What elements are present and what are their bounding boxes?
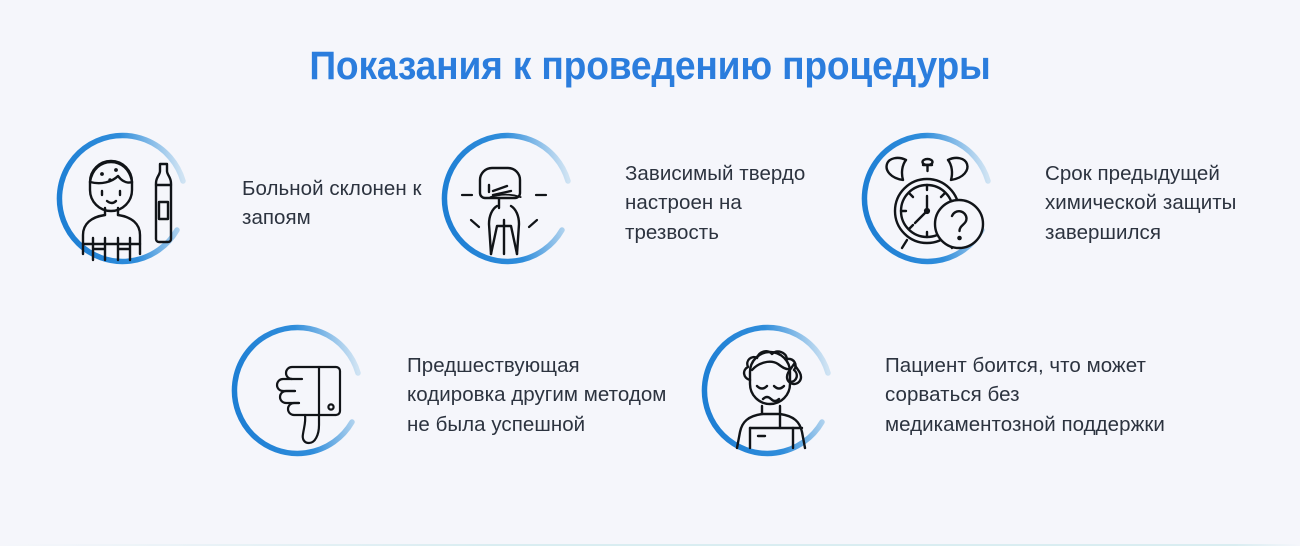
indication-item-2: Зависимый твердо настроен на трезвость [435, 128, 870, 278]
indication-item-4: Предшествующая кодировка другим методом … [225, 320, 737, 470]
icon-badge-5 [695, 320, 845, 470]
icon-badge-4 [225, 320, 375, 470]
page-title: Показания к проведению процедуры [46, 44, 1255, 89]
indication-label-2: Зависимый твердо настроен на трезвость [625, 159, 870, 246]
indication-item-1: Больной склонен к запоям [50, 128, 492, 278]
indication-label-4: Предшествующая кодировка другим методом … [407, 351, 737, 438]
infographic-root: Показания к проведению процедуры [0, 0, 1300, 546]
icon-badge-3 [855, 128, 1005, 278]
indication-label-3: Срок предыдущей химической защиты заверш… [1045, 159, 1300, 246]
indication-item-3: Срок предыдущей химической защиты заверш… [855, 128, 1300, 278]
indication-item-5: Пациент боится, что может сорваться без … [695, 320, 1245, 470]
icon-badge-2 [435, 128, 585, 278]
indication-label-5: Пациент боится, что может сорваться без … [885, 351, 1245, 438]
icon-badge-1 [50, 128, 200, 278]
